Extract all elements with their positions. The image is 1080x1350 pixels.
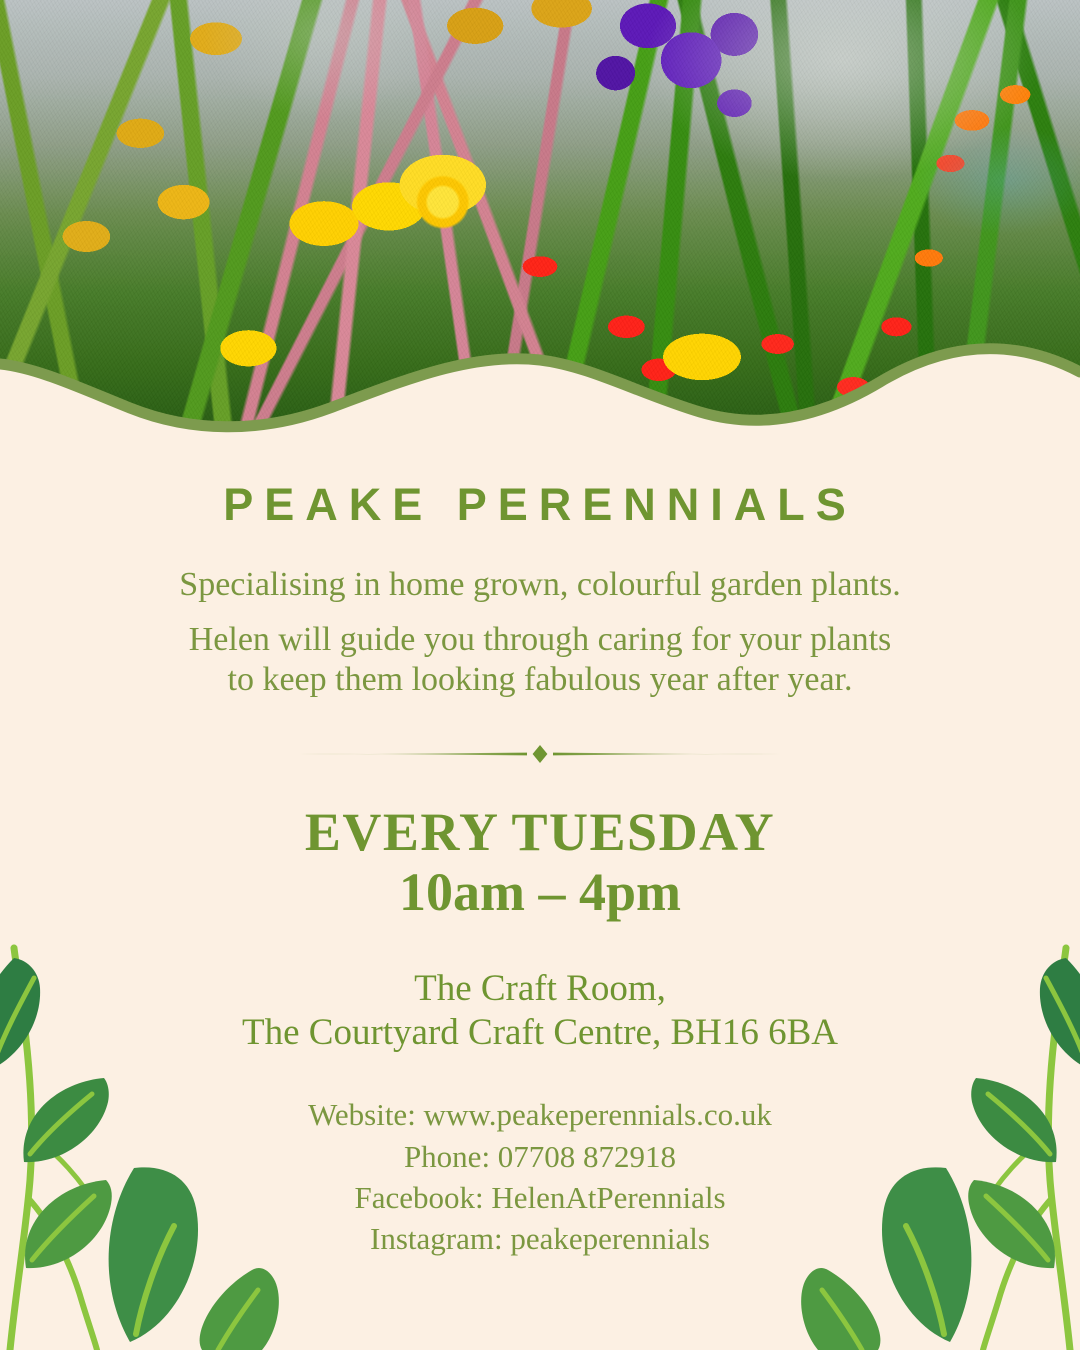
contact-block: Website: www.peakeperennials.co.uk Phone… (0, 1054, 1080, 1259)
contact-phone[interactable]: Phone: 07708 872918 (0, 1136, 1080, 1177)
poster: PEAKE PERENNIALS Specialising in home gr… (0, 0, 1080, 1350)
tagline-line-3: to keep them looking fabulous year after… (0, 660, 1080, 699)
schedule-hours: 10am – 4pm (0, 860, 1080, 921)
schedule-day: EVERY TUESDAY (0, 767, 1080, 860)
poster-content: PEAKE PERENNIALS Specialising in home gr… (0, 430, 1080, 1259)
contact-website[interactable]: Website: www.peakeperennials.co.uk (0, 1094, 1080, 1135)
header-photo (0, 0, 1080, 430)
page-title: PEAKE PERENNIALS (0, 430, 1080, 527)
divider-ornament (295, 741, 785, 767)
venue-line-1: The Craft Room, (0, 921, 1080, 1011)
contact-facebook[interactable]: Facebook: HelenAtPerennials (0, 1177, 1080, 1218)
tagline-line-2: Helen will guide you through caring for … (0, 604, 1080, 659)
leaf-icon (801, 1268, 880, 1350)
garden-photo-image (0, 0, 1080, 430)
leaf-icon (200, 1268, 279, 1350)
tagline-line-1: Specialising in home grown, colourful ga… (0, 527, 1080, 604)
contact-instagram[interactable]: Instagram: peakeperennials (0, 1218, 1080, 1259)
venue-line-2: The Courtyard Craft Centre, BH16 6BA (0, 1011, 1080, 1055)
